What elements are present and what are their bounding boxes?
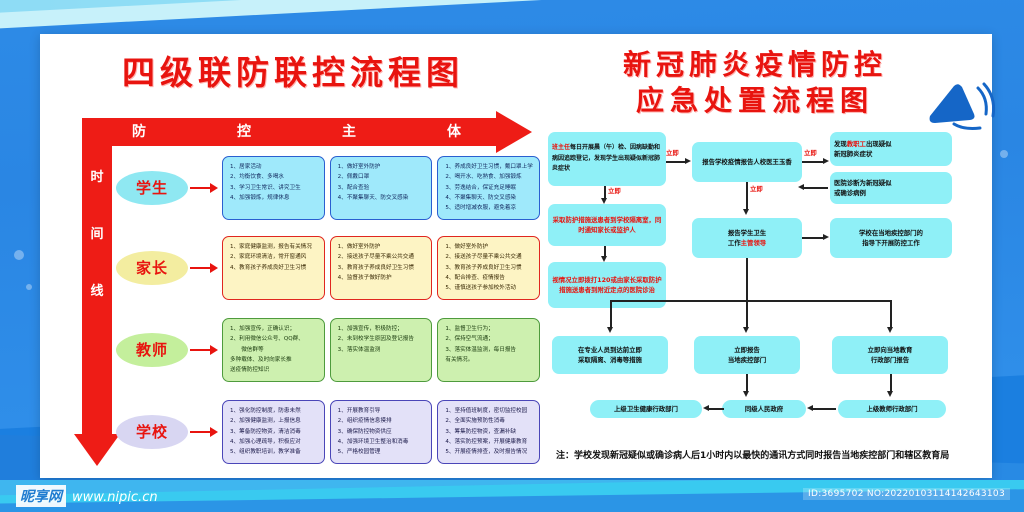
- flow-node-highlight: 教职工: [847, 140, 866, 148]
- flow-node-staff-symptoms: 发现教职工出现疑似新冠肺炎症状: [830, 132, 952, 166]
- flow-node-homeroom-check: 班主任每日开展晨（午）检、因病缺勤和病因追踪登记，发现学生出现疑似新冠肺炎症状: [548, 132, 666, 186]
- measure-box: 1、强化防控制度，防患未然2、加强健康监测，上报信息3、筹备防控物资，清洁消毒4…: [222, 400, 325, 464]
- measure-item: 3、教育孩子养成良好卫生习惯: [445, 263, 534, 273]
- measure-item: 3、配合查验: [338, 183, 427, 193]
- arrow-head-right-icon: [496, 111, 532, 153]
- timeline-labels: 时 间 线: [82, 166, 112, 337]
- row-boxes: 1、家庭健康监测，报告有关情况2、家庭环境清洁，常开窗通风4、教育孩子养成良好卫…: [222, 236, 540, 300]
- arrow-head-icon: [601, 256, 607, 262]
- measure-item: 4、加强锻炼，规律休息: [230, 193, 319, 203]
- right-title-line1: 新冠肺炎疫情防控: [623, 48, 887, 81]
- table-row: 教师 1、加强宣传，正确认识；2、利用微信公众号、QQ群、 微信群等多种载体、及…: [116, 318, 540, 382]
- row-arrow-icon: [190, 183, 220, 193]
- measure-box: 1、家庭健康监测，报告有关情况2、家庭环境清洁，常开窗通风4、教育孩子养成良好卫…: [222, 236, 325, 300]
- timeline-label-1: 间: [82, 223, 112, 242]
- measure-item: 2、均衡饮食、多喝水: [230, 172, 319, 182]
- poster-card: 四级联防联控流程图 新冠肺炎疫情防控 应急处置流程图 防 控 主 体 时 间: [40, 34, 992, 478]
- measure-item: 3、筹集防控物资，查漏补缺: [445, 427, 534, 437]
- arrow-head-icon: [887, 391, 893, 397]
- row-arrow-icon: [190, 263, 220, 273]
- flow-node-isolation-room: 采取防护措施送患者到学校隔离室，同时通知家长或监护人: [548, 204, 666, 246]
- measure-item: 2、家庭环境清洁，常开窗通风: [230, 252, 319, 262]
- measure-box: 1、做好室外防护2、接送孩子尽量不乘公共交通3、教育孩子养成良好卫生习惯4、监督…: [330, 236, 433, 300]
- flow-node-highlight: 班主任: [552, 144, 570, 151]
- measure-item: 1、开展教育引导: [338, 406, 427, 416]
- measure-item: 4、不聚集聊天、防交叉感染: [445, 193, 534, 203]
- measure-item: 2、接送孩子尽量不乘公共交通: [445, 252, 534, 262]
- measure-item: 5、开展疫情排查，及时报告情况: [445, 447, 534, 457]
- horizontal-arrow-banner: 防 控 主 体: [82, 118, 532, 146]
- measure-item: 3、教育孩子养成良好卫生习惯: [338, 263, 427, 273]
- bg-dot: [14, 250, 24, 260]
- measure-item: 1、坚持值班制度，密切监控校园: [445, 406, 534, 416]
- measure-item: 5、组织教职培训，教学准备: [230, 447, 319, 457]
- asset-id-tag: ID:3695702 NO:20220103114142643103: [803, 488, 1010, 500]
- measure-item: 4、教育孩子养成良好卫生习惯: [230, 263, 319, 273]
- measure-item: 3、落实体温监测: [338, 345, 427, 355]
- banner-label-2: 主: [342, 121, 357, 141]
- connector: [610, 300, 890, 302]
- measure-item: 1、做好室外防护: [338, 242, 427, 252]
- measure-item: 1、加强宣传，正确认识；: [230, 324, 319, 334]
- measure-item: 1、强化防控制度，防患未然: [230, 406, 319, 416]
- connector: [746, 258, 748, 300]
- subject-oval-parent: 家长: [116, 251, 188, 285]
- connector: [802, 161, 824, 163]
- subject-oval-school: 学校: [116, 415, 188, 449]
- banner-label-1: 控: [237, 121, 252, 141]
- emergency-flowchart: 班主任每日开展晨（午）检、因病缺勤和病因追踪登记，发现学生出现疑似新冠肺炎症状 …: [542, 128, 986, 474]
- measure-item: 2、全面实施预防性消毒: [445, 416, 534, 426]
- connector: [708, 408, 724, 410]
- measure-item: 1、做好室外防护: [338, 162, 427, 172]
- watermark-footer: 昵享网 www.nipic.cn ID:3695702 NO:202201031…: [0, 480, 1024, 512]
- measure-item: 有关情况。: [445, 355, 534, 365]
- measure-box: 1、监督卫生行为；2、保持空气流通；3、落实体温监测，每日报告有关情况。: [437, 318, 540, 382]
- measure-item: 3、筹备防控物资，清洁消毒: [230, 427, 319, 437]
- arrow-head-down-icon: [74, 434, 120, 466]
- measure-item: 2、加强健康监测，上报信息: [230, 416, 319, 426]
- measure-item: 3、学习卫生常识、讲究卫生: [230, 183, 319, 193]
- site-url: www.nipic.cn: [72, 490, 158, 505]
- measure-item: 1、居家活动: [230, 162, 319, 172]
- measure-item: 送疫情防控知识: [230, 365, 319, 375]
- measure-item: 1、做好室外防护: [445, 242, 534, 252]
- flow-node-upper-education-dept: 上级教师行政部门: [838, 400, 946, 418]
- banner-labels: 防 控 主 体: [132, 121, 462, 141]
- arrow-head-icon: [685, 158, 691, 164]
- banner-label-0: 防: [132, 121, 147, 141]
- measure-box: 1、做好室外防护2、接送孩子尽量不乘公共交通3、教育孩子养成良好卫生习惯4、配合…: [437, 236, 540, 300]
- flowchart-note: 注：学校发现新冠疑似或确诊病人后1小时内以最快的通讯方式同时报告当地疾控部门和辖…: [556, 450, 976, 464]
- bg-dot: [26, 284, 32, 290]
- right-page-title: 新冠肺炎疫情防控 应急处置流程图: [540, 50, 970, 116]
- arrow-head-icon: [823, 158, 829, 164]
- flow-node-isolate-disinfect: 在专业人员到达前立即采取隔离、消毒等措施: [552, 336, 668, 374]
- row-boxes: 1、强化防控制度，防患未然2、加强健康监测，上报信息3、筹备防控物资，清洁消毒4…: [222, 400, 540, 464]
- connector: [746, 182, 748, 210]
- measure-box: 1、加强宣传，积极防控；2、未到校学生原因及登记报告3、落实体温监测: [330, 318, 433, 382]
- measure-box: 1、开展教育引导2、组织疫情信息摸排3、确保防控物资供应4、加强环境卫生整治和消…: [330, 400, 433, 464]
- measure-item: 4、加强心理疏导，积极应对: [230, 437, 319, 447]
- measure-item: 2、接送孩子尽量不乘公共交通: [338, 252, 427, 262]
- measure-item: 1、家庭健康监测，报告有关情况: [230, 242, 319, 252]
- measure-item: 4、监督孩子做好防护: [338, 273, 427, 283]
- measure-item: 5、适时增减衣服，避免着凉: [445, 203, 534, 213]
- row-arrow-icon: [190, 427, 220, 437]
- row-arrow-icon: [190, 345, 220, 355]
- flow-node-same-level-government: 同级人民政府: [722, 400, 806, 418]
- measure-box: 1、加强宣传，正确认识；2、利用微信公众号、QQ群、 微信群等多种载体、及时向家…: [222, 318, 325, 382]
- flow-node-report-education-dept: 立即向当地教育行政部门报告: [832, 336, 948, 374]
- arrow-head-icon: [807, 405, 813, 411]
- measure-item: 微信群等: [230, 345, 319, 355]
- measure-box: 1、养成良好卫生习惯，戴口罩上学2、喝开水、吃熟食、加强锻炼3、劳逸结合，保证充…: [437, 156, 540, 220]
- immediate-label: 立即: [750, 184, 763, 193]
- connector: [802, 237, 824, 239]
- flow-node-hospital-diagnosis: 医院诊断为新冠疑似或确诊病例: [830, 172, 952, 204]
- measure-item: 多种载体、及时向家长推: [230, 355, 319, 365]
- arrow-head-icon: [703, 405, 709, 411]
- left-page-title: 四级联防联控流程图: [58, 56, 528, 91]
- flow-node-upper-health-dept: 上级卫生健康行政部门: [590, 400, 702, 418]
- table-row: 学生 1、居家活动2、均衡饮食、多喝水3、学习卫生常识、讲究卫生4、加强锻炼，规…: [116, 156, 540, 220]
- measure-item: 1、养成良好卫生习惯，戴口罩上学: [445, 162, 534, 172]
- site-logo: 昵享网: [16, 485, 66, 507]
- measure-item: 3、落实体温监测，每日报告: [445, 345, 534, 355]
- connector: [812, 408, 836, 410]
- connector: [610, 300, 612, 328]
- arrow-head-icon: [823, 234, 829, 240]
- measure-box: 1、居家活动2、均衡饮食、多喝水3、学习卫生常识、讲究卫生4、加强锻炼，规律休息: [222, 156, 325, 220]
- table-row: 家长 1、家庭健康监测，报告有关情况2、家庭环境清洁，常开窗通风4、教育孩子养成…: [116, 236, 540, 300]
- immediate-label: 立即: [608, 186, 621, 195]
- measure-item: 2、利用微信公众号、QQ群、: [230, 334, 319, 344]
- arrow-head-icon: [887, 327, 893, 333]
- measure-item: 2、佩戴口罩: [338, 172, 427, 182]
- measure-item: 4、加强环境卫生整治和消毒: [338, 437, 427, 447]
- measure-box: 1、做好室外防护2、佩戴口罩3、配合查验4、不聚集聊天、防交叉感染: [330, 156, 433, 220]
- arrow-head-icon: [607, 327, 613, 333]
- flow-node-report-health-leader: 报告学生卫生工作主管领导: [692, 218, 802, 258]
- arrow-head-icon: [743, 391, 749, 397]
- immediate-label: 立即: [666, 148, 679, 157]
- bg-dot: [1000, 150, 1008, 158]
- table-row: 学校 1、强化防控制度，防患未然2、加强健康监测，上报信息3、筹备防控物资，清洁…: [116, 400, 540, 464]
- measure-item: 2、喝开水、吃熟食、加强锻炼: [445, 172, 534, 182]
- measure-item: 2、未到校学生原因及登记报告: [338, 334, 427, 344]
- measure-item: 4、落实防控预案，开展健康教育: [445, 437, 534, 447]
- timeline-label-2: 线: [82, 280, 112, 299]
- measure-item: 1、加强宣传，积极防控；: [338, 324, 427, 334]
- megaphone-icon: [924, 80, 996, 134]
- immediate-label: 立即: [804, 148, 817, 157]
- connector: [746, 374, 748, 392]
- arrow-head-icon: [743, 209, 749, 215]
- timeline-label-0: 时: [82, 166, 112, 185]
- arrow-head-icon: [798, 184, 804, 190]
- connector: [890, 374, 892, 392]
- left-flow-panel: 防 控 主 体 时 间 线 学生 1、居家活动2、均衡饮食、多喝水3、学习卫生常…: [54, 114, 540, 470]
- vertical-timeline-arrow: 时 间 线: [82, 118, 112, 470]
- measure-item: 2、组织疫情信息摸排: [338, 416, 427, 426]
- measure-item: 3、劳逸结合，保证充足睡眠: [445, 183, 534, 193]
- row-boxes: 1、居家活动2、均衡饮食、多喝水3、学习卫生常识、讲究卫生4、加强锻炼，规律休息…: [222, 156, 540, 220]
- measure-item: 4、不聚集聊天、防交叉感染: [338, 193, 427, 203]
- measure-item: 2、保持空气流通；: [445, 334, 534, 344]
- flow-node-highlight: 主管领导: [741, 239, 767, 247]
- measure-item: 3、确保防控物资供应: [338, 427, 427, 437]
- connector: [890, 300, 892, 328]
- subject-oval-teacher: 教师: [116, 333, 188, 367]
- subject-oval-student: 学生: [116, 171, 188, 205]
- connector: [804, 187, 828, 189]
- flow-node-report-local-cdc: 立即报告当地疾控部门: [694, 336, 800, 374]
- site-watermark: 昵享网 www.nipic.cn: [16, 485, 158, 507]
- measure-item: 1、监督卫生行为；: [445, 324, 534, 334]
- measure-box: 1、坚持值班制度，密切监控校园2、全面实施预防性消毒3、筹集防控物资，查漏补缺4…: [437, 400, 540, 464]
- flow-node-cdc-guidance: 学校在当地疾控部门的指导下开展防控工作: [830, 218, 952, 258]
- flow-node-report-to-school-reporter: 报告学校疫情报告人校医王玉香: [692, 142, 802, 182]
- measure-item: 5、严格校园管理: [338, 447, 427, 457]
- arrow-head-icon: [743, 327, 749, 333]
- banner-label-3: 体: [447, 121, 462, 141]
- connector: [666, 161, 686, 163]
- right-title-line2: 应急处置流程图: [540, 86, 970, 115]
- measure-item: 4、配合排查、疫情报告: [445, 273, 534, 283]
- measure-item: 5、谨慎送孩子参加校外活动: [445, 283, 534, 293]
- connector: [746, 300, 748, 328]
- row-boxes: 1、加强宣传，正确认识；2、利用微信公众号、QQ群、 微信群等多种载体、及时向家…: [222, 318, 540, 382]
- arrow-head-icon: [601, 198, 607, 204]
